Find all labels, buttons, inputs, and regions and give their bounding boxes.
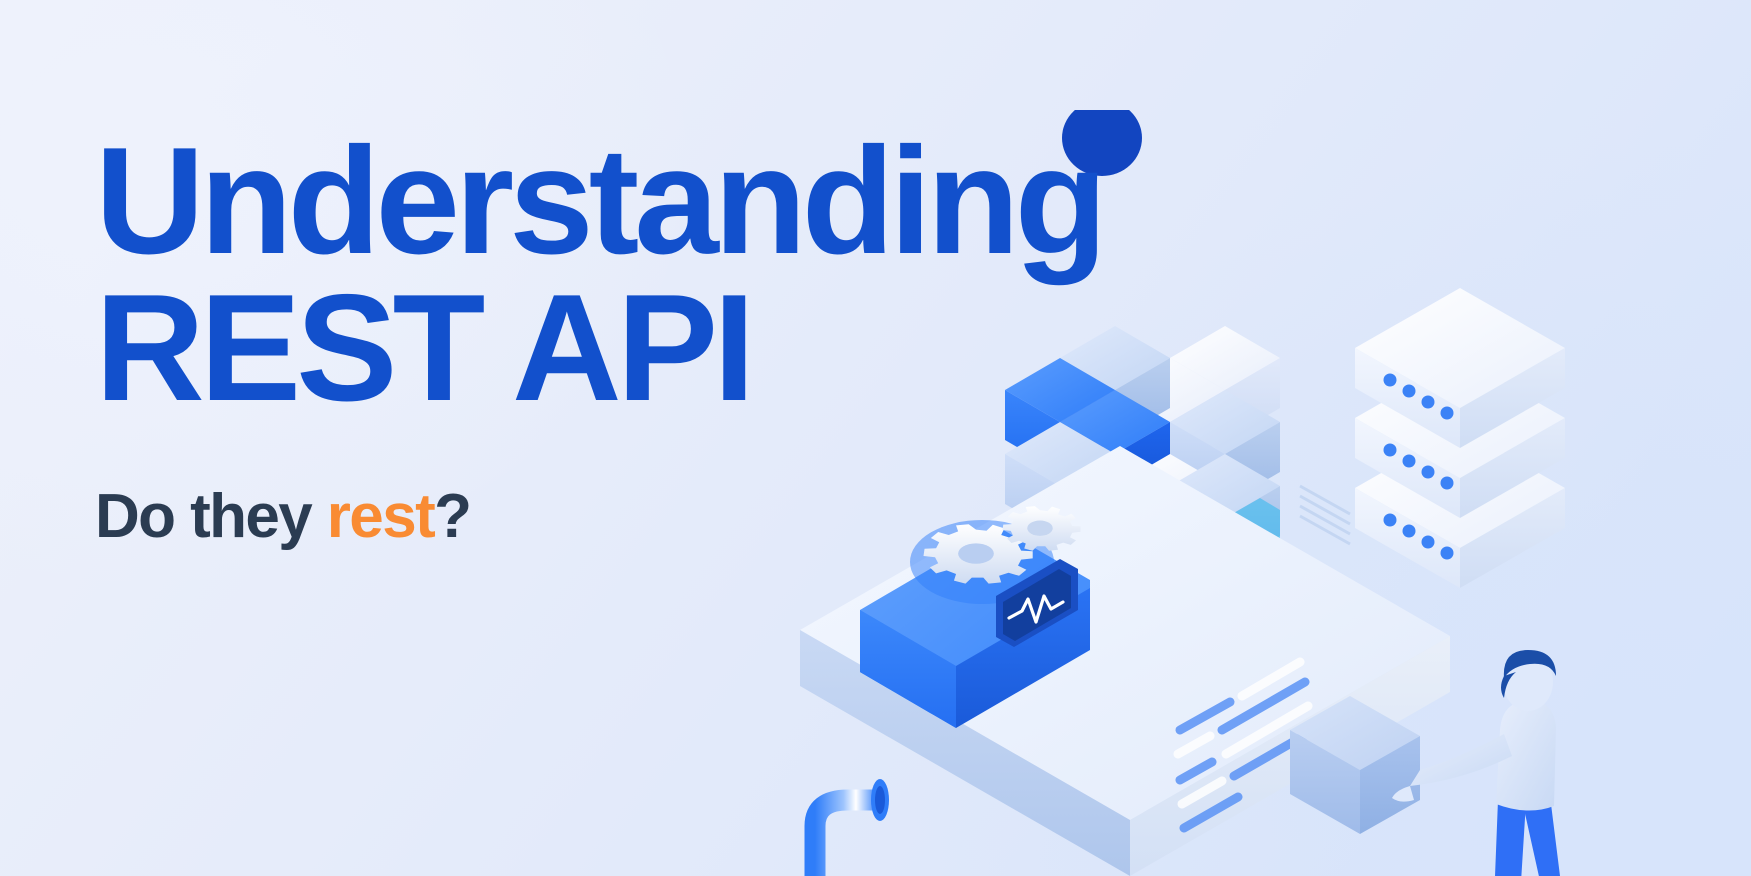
page-title: Understanding REST API: [95, 128, 1095, 423]
text-block: Understanding REST API Do they rest?: [95, 128, 1095, 552]
subtitle-suffix: ?: [434, 482, 470, 551]
server-rack: [1300, 288, 1565, 588]
connector-lines: [1300, 486, 1350, 544]
page-subtitle: Do they rest?: [95, 481, 1095, 552]
subtitle-prefix: Do they: [95, 482, 327, 551]
blue-pipe: [815, 779, 889, 876]
arm: [1410, 734, 1512, 786]
leg: [1486, 800, 1526, 876]
subtitle-accent: rest: [327, 482, 434, 551]
rest-api-banner: Understanding REST API Do they rest?: [0, 0, 1751, 876]
